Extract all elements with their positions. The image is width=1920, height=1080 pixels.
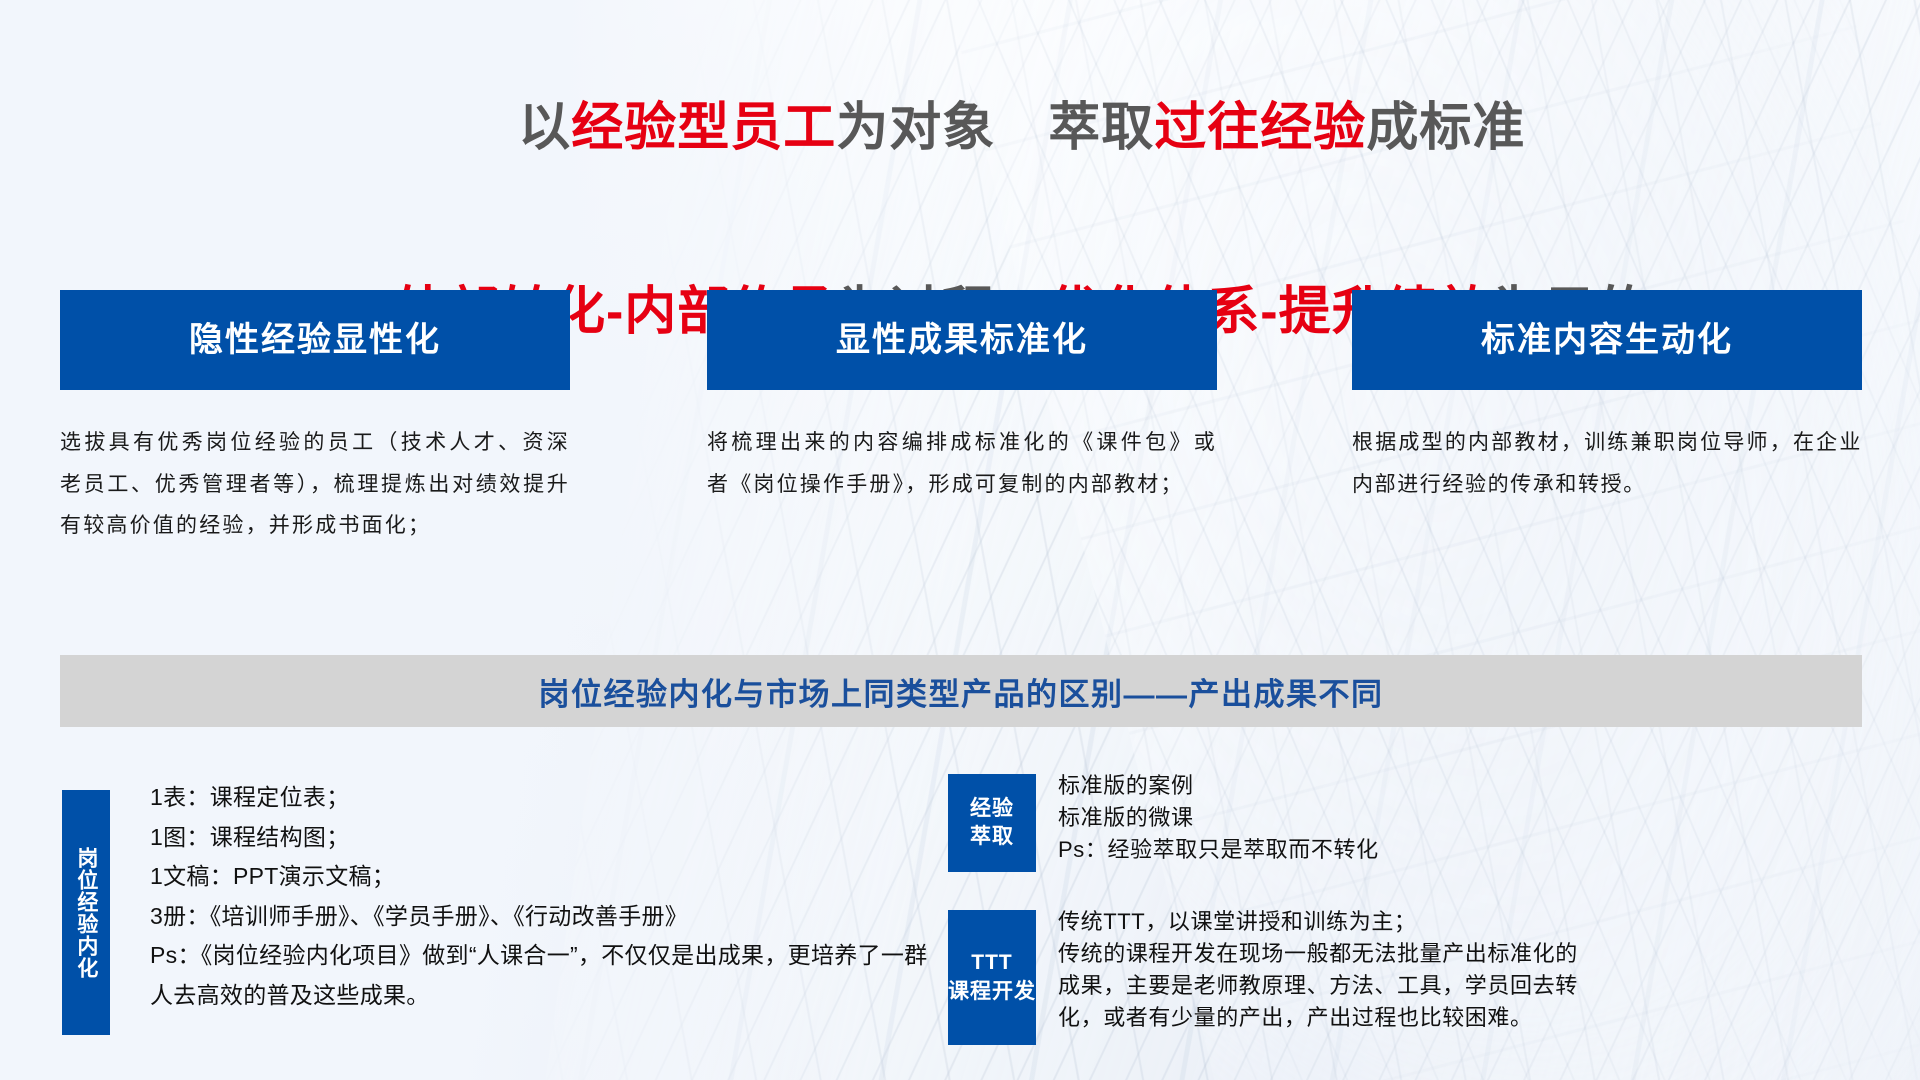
block-2-text-line: 传统的课程开发在现场一般都无法批量产出标准化的	[1058, 938, 1898, 970]
section-banner-title: 岗位经验内化与市场上同类型产品的区别——产出成果不同	[539, 669, 1384, 714]
block-2-text-line: 传统TTT，以课堂讲授和训练为主；	[1058, 906, 1898, 938]
list-item: Ps：《岗位经验内化项目》做到“人课合一”，不仅仅是出成果，更培养了一群人去高效…	[150, 936, 930, 1015]
block-1-text-line: 标准版的案例	[1058, 770, 1898, 802]
block-1-text-line: 标准版的微课	[1058, 802, 1898, 834]
block-1-tag-line-1: 经验	[970, 795, 1014, 823]
block-1-text: 标准版的案例 标准版的微课 Ps：经验萃取只是萃取而不转化	[1058, 770, 1898, 866]
card-standard-content-vivid: 标准内容生动化 根据成型的内部教材，训练兼职岗位导师，在企业内部进行经验的传承和…	[1352, 290, 1862, 505]
block-1-tag-line-2: 萃取	[970, 823, 1014, 851]
block-2-tag: TTT 课程开发	[948, 910, 1036, 1045]
comparison-area: 岗位经验内化 1表：课程定位表； 1图：课程结构图； 1文稿：PPT演示文稿； …	[0, 760, 1920, 1080]
section-banner: 岗位经验内化与市场上同类型产品的区别——产出成果不同	[60, 655, 1862, 727]
block-ttt-course-development: TTT 课程开发 传统TTT，以课堂讲授和训练为主； 传统的课程开发在现场一般都…	[948, 910, 1898, 1070]
card-2-heading: 显性成果标准化	[707, 290, 1217, 390]
block-1-text-line: Ps：经验萃取只是萃取而不转化	[1058, 834, 1898, 866]
vertical-tab-job-experience: 岗位经验内化	[62, 790, 110, 1035]
list-item: 1文稿：PPT演示文稿；	[150, 857, 930, 897]
card-2-body: 将梳理出来的内容编排成标准化的《课件包》或者《岗位操作手册》，形成可复制的内部教…	[707, 422, 1217, 505]
title-l1-seg-4: 萃取	[1048, 99, 1154, 157]
card-hidden-experience: 隐性经验显性化 选拔具有优秀岗位经验的员工（技术人才、资深老员工、优秀管理者等）…	[60, 290, 570, 547]
title-line-1: 以经验型员工为对象 萃取过往经验成标准	[0, 50, 1920, 206]
block-2-text-line: 成果，主要是老师教原理、方法、工具，学员回去转	[1058, 970, 1898, 1002]
block-1-tag: 经验 萃取	[948, 774, 1036, 872]
block-experience-extraction: 经验 萃取 标准版的案例 标准版的微课 Ps：经验萃取只是萃取而不转化	[948, 774, 1898, 884]
card-explicit-standardisation: 显性成果标准化 将梳理出来的内容编排成标准化的《课件包》或者《岗位操作手册》，形…	[707, 290, 1217, 505]
card-1-heading: 隐性经验显性化	[60, 290, 570, 390]
deliverables-list: 1表：课程定位表； 1图：课程结构图； 1文稿：PPT演示文稿； 3册：《培训师…	[150, 778, 930, 1015]
card-1-body: 选拔具有优秀岗位经验的员工（技术人才、资深老员工、优秀管理者等），梳理提炼出对绩…	[60, 422, 570, 547]
card-3-body: 根据成型的内部教材，训练兼职岗位导师，在企业内部进行经验的传承和转授。	[1352, 422, 1862, 505]
list-item: 3册：《培训师手册》、《学员手册》、《行动改善手册》	[150, 897, 930, 937]
three-column-cards: 隐性经验显性化 选拔具有优秀岗位经验的员工（技术人才、资深老员工、优秀管理者等）…	[0, 290, 1920, 530]
list-item: 1图：课程结构图；	[150, 818, 930, 858]
card-3-heading: 标准内容生动化	[1352, 290, 1862, 390]
list-item: 1表：课程定位表；	[150, 778, 930, 818]
title-l1-seg-5: 过往经验	[1154, 99, 1366, 157]
title-l1-seg-3: 为对象	[836, 99, 1048, 157]
slide-canvas: 以经验型员工为对象 萃取过往经验成标准 外部转化-内部传承为过程 优化体系-提升…	[0, 0, 1920, 1080]
title-l1-seg-1: 以	[518, 99, 571, 157]
block-2-text: 传统TTT，以课堂讲授和训练为主； 传统的课程开发在现场一般都无法批量产出标准化…	[1058, 906, 1898, 1034]
title-l1-seg-2: 经验型员工	[571, 99, 836, 157]
title-l1-seg-6: 成标准	[1366, 99, 1525, 157]
block-2-text-line: 化，或者有少量的产出，产出过程也比较困难。	[1058, 1002, 1898, 1034]
block-2-tag-line-2: 课程开发	[948, 978, 1036, 1006]
block-2-tag-line-1: TTT	[971, 949, 1012, 977]
